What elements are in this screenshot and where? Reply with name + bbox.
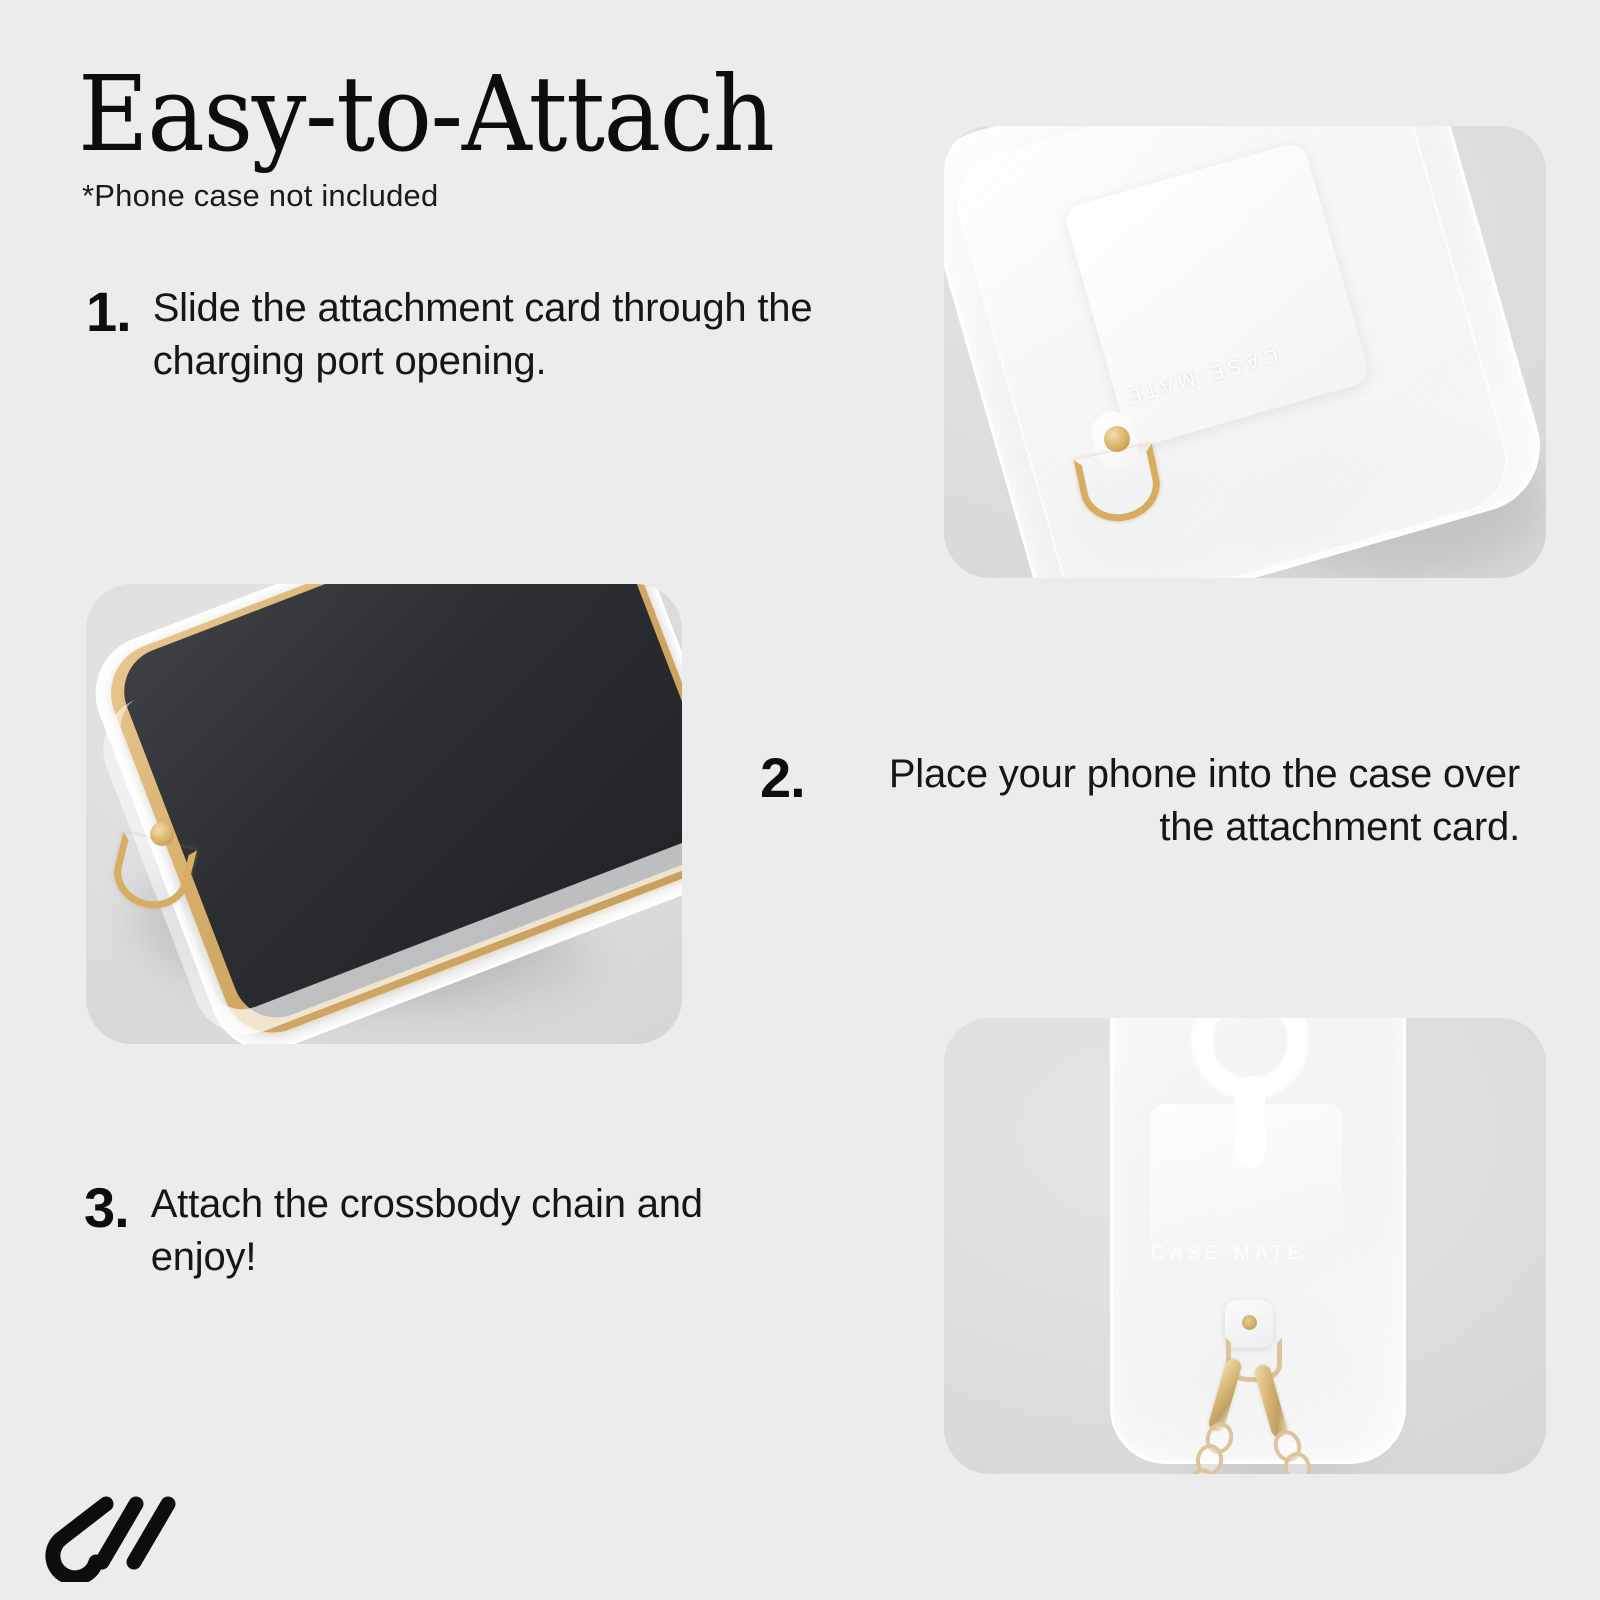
case-mate-logo [40,1482,190,1582]
step-2: 2. Place your phone into the case over t… [760,748,1520,854]
step-3: 3. Attach the crossbody chain and enjoy! [84,1178,804,1284]
attachment-card-pill [1235,1076,1265,1168]
page-title: Easy-to-Attach [78,60,773,169]
step-1-text: Slide the attachment card through the ch… [131,282,916,388]
step-3-number: 3. [84,1178,129,1236]
case-mate-wordmark-on-case: CASE·MATE [1151,1243,1305,1265]
step-2-text: Place your phone into the case over the … [805,748,1520,854]
product-photo-step-2 [86,584,682,1044]
step-1-number: 1. [86,282,131,340]
product-photo-step-3: CASE·MATE [944,1018,1546,1474]
product-instruction-graphic: Easy-to-Attach *Phone case not included … [0,0,1600,1600]
step-1: 1. Slide the attachment card through the… [86,282,916,388]
attachment-tab-hole [1242,1315,1257,1330]
page-footnote: *Phone case not included [82,178,438,214]
step-2-number: 2. [760,748,805,806]
product-photo-step-1: CASE·MATE [944,126,1546,578]
step-3-text: Attach the crossbody chain and enjoy! [129,1178,804,1284]
